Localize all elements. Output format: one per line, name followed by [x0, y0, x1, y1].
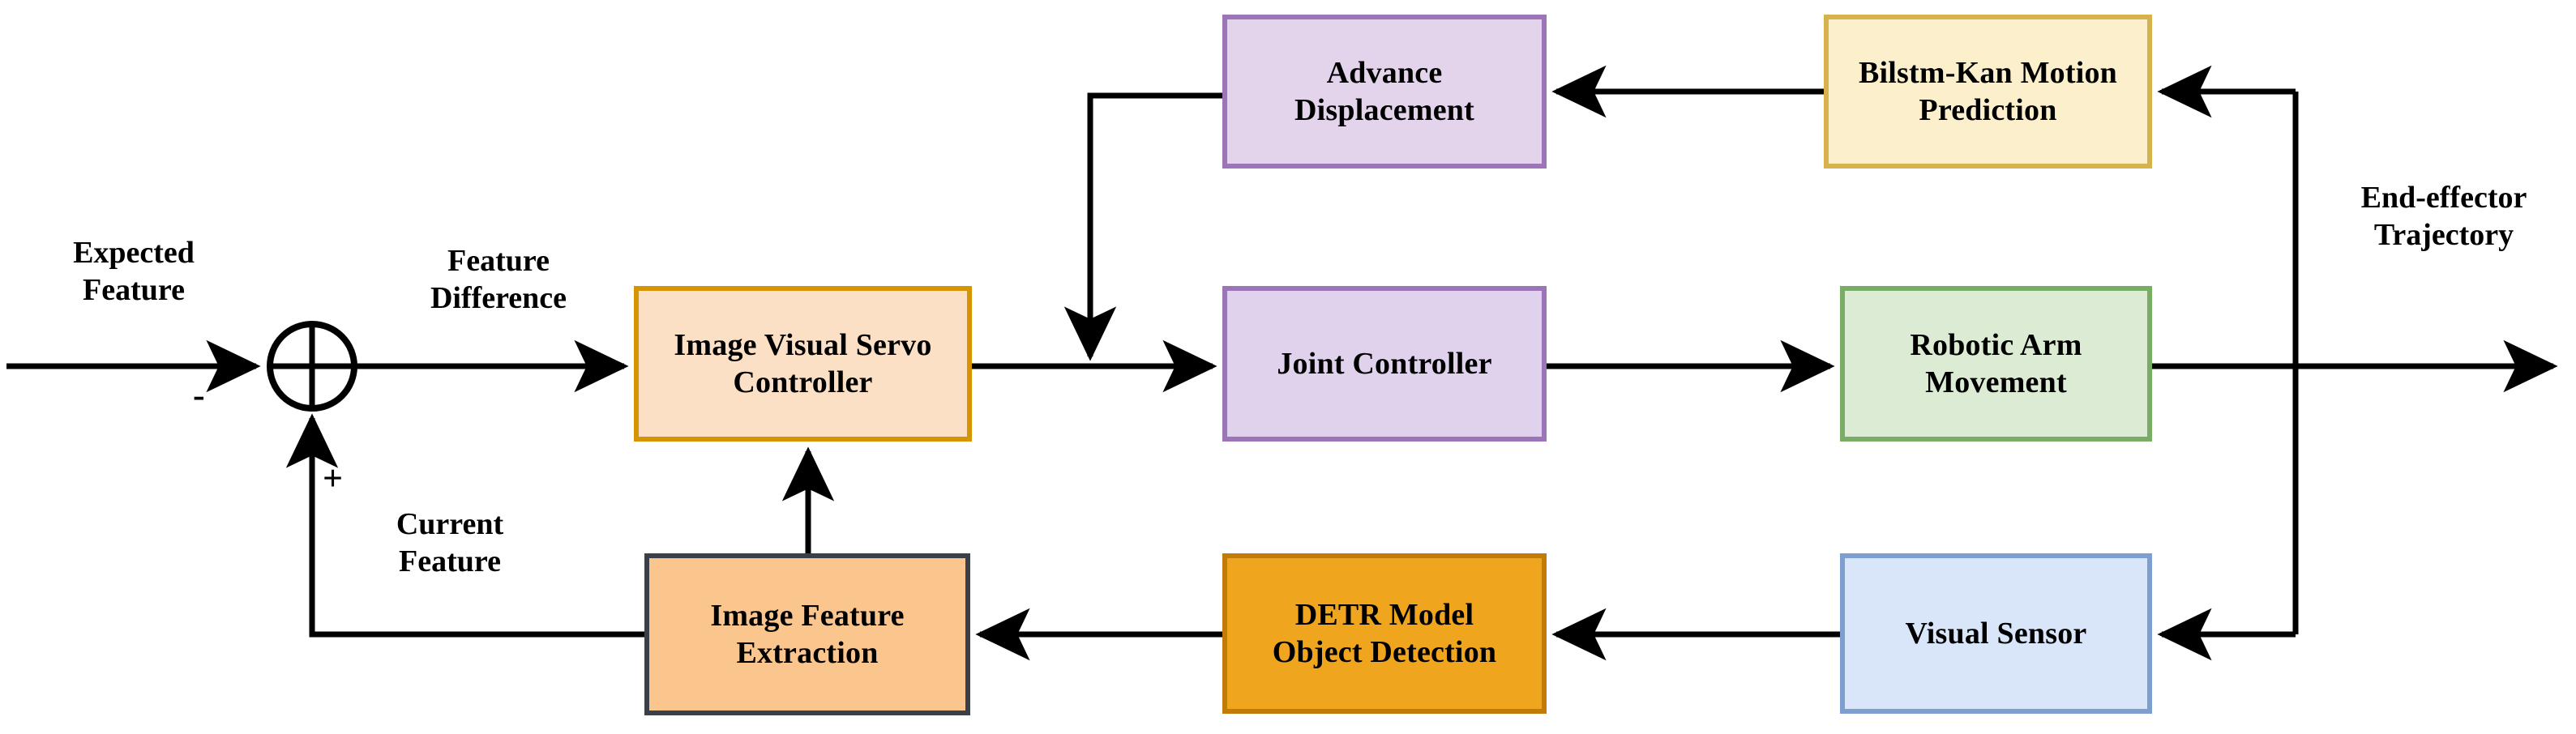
block-robotic-arm-movement[interactable]: Robotic Arm Movement	[1840, 286, 2152, 442]
block-visual-sensor[interactable]: Visual Sensor	[1840, 553, 2152, 714]
block-label-line1: Visual Sensor	[1906, 615, 2087, 652]
label-line1: Current	[357, 506, 543, 544]
block-label-line1: Joint Controller	[1277, 345, 1491, 382]
label-line1: Feature	[381, 243, 616, 280]
wire-advance-branch	[1090, 96, 1222, 356]
block-image-visual-servo-controller[interactable]: Image Visual Servo Controller	[634, 286, 972, 442]
block-label-line1: Bilstm-Kan Motion	[1859, 54, 2117, 92]
block-label-line1: Advance	[1294, 54, 1474, 92]
label-end-effector-trajectory: End-effector Trajectory	[2326, 180, 2561, 254]
block-label-line1: Robotic Arm	[1910, 326, 2082, 364]
block-label-line2: Object Detection	[1273, 634, 1496, 671]
label-current-feature: Current Feature	[357, 506, 543, 580]
label-line1: End-effector	[2326, 180, 2561, 217]
block-label-line1: Image Feature	[710, 597, 904, 634]
label-line2: Difference	[381, 280, 616, 318]
summing-plus-sign: +	[323, 458, 343, 499]
label-line2: Feature	[32, 272, 235, 309]
block-image-feature-extraction[interactable]: Image Feature Extraction	[644, 553, 970, 715]
block-label-line2: Controller	[674, 364, 931, 401]
label-line2: Feature	[357, 544, 543, 581]
summing-minus-sign: -	[193, 374, 205, 416]
block-label-line1: Image Visual Servo	[674, 326, 931, 364]
block-detr-model-object-detection[interactable]: DETR Model Object Detection	[1222, 553, 1547, 714]
label-line2: Trajectory	[2326, 217, 2561, 254]
block-label-line2: Prediction	[1859, 92, 2117, 129]
block-joint-controller[interactable]: Joint Controller	[1222, 286, 1547, 442]
block-label-line2: Movement	[1910, 364, 2082, 401]
label-line1: Expected	[32, 235, 235, 272]
diagram-canvas: Image Visual Servo Controller Advance Di…	[0, 0, 2576, 734]
summing-junction-circle	[270, 324, 354, 408]
block-advance-displacement[interactable]: Advance Displacement	[1222, 15, 1547, 169]
label-feature-difference: Feature Difference	[381, 243, 616, 317]
block-label-line2: Extraction	[710, 634, 904, 672]
label-expected-feature: Expected Feature	[32, 235, 235, 309]
block-label-line1: DETR Model	[1273, 596, 1496, 634]
block-bilstm-kan-motion-prediction[interactable]: Bilstm-Kan Motion Prediction	[1824, 15, 2152, 169]
block-label-line2: Displacement	[1294, 92, 1474, 129]
